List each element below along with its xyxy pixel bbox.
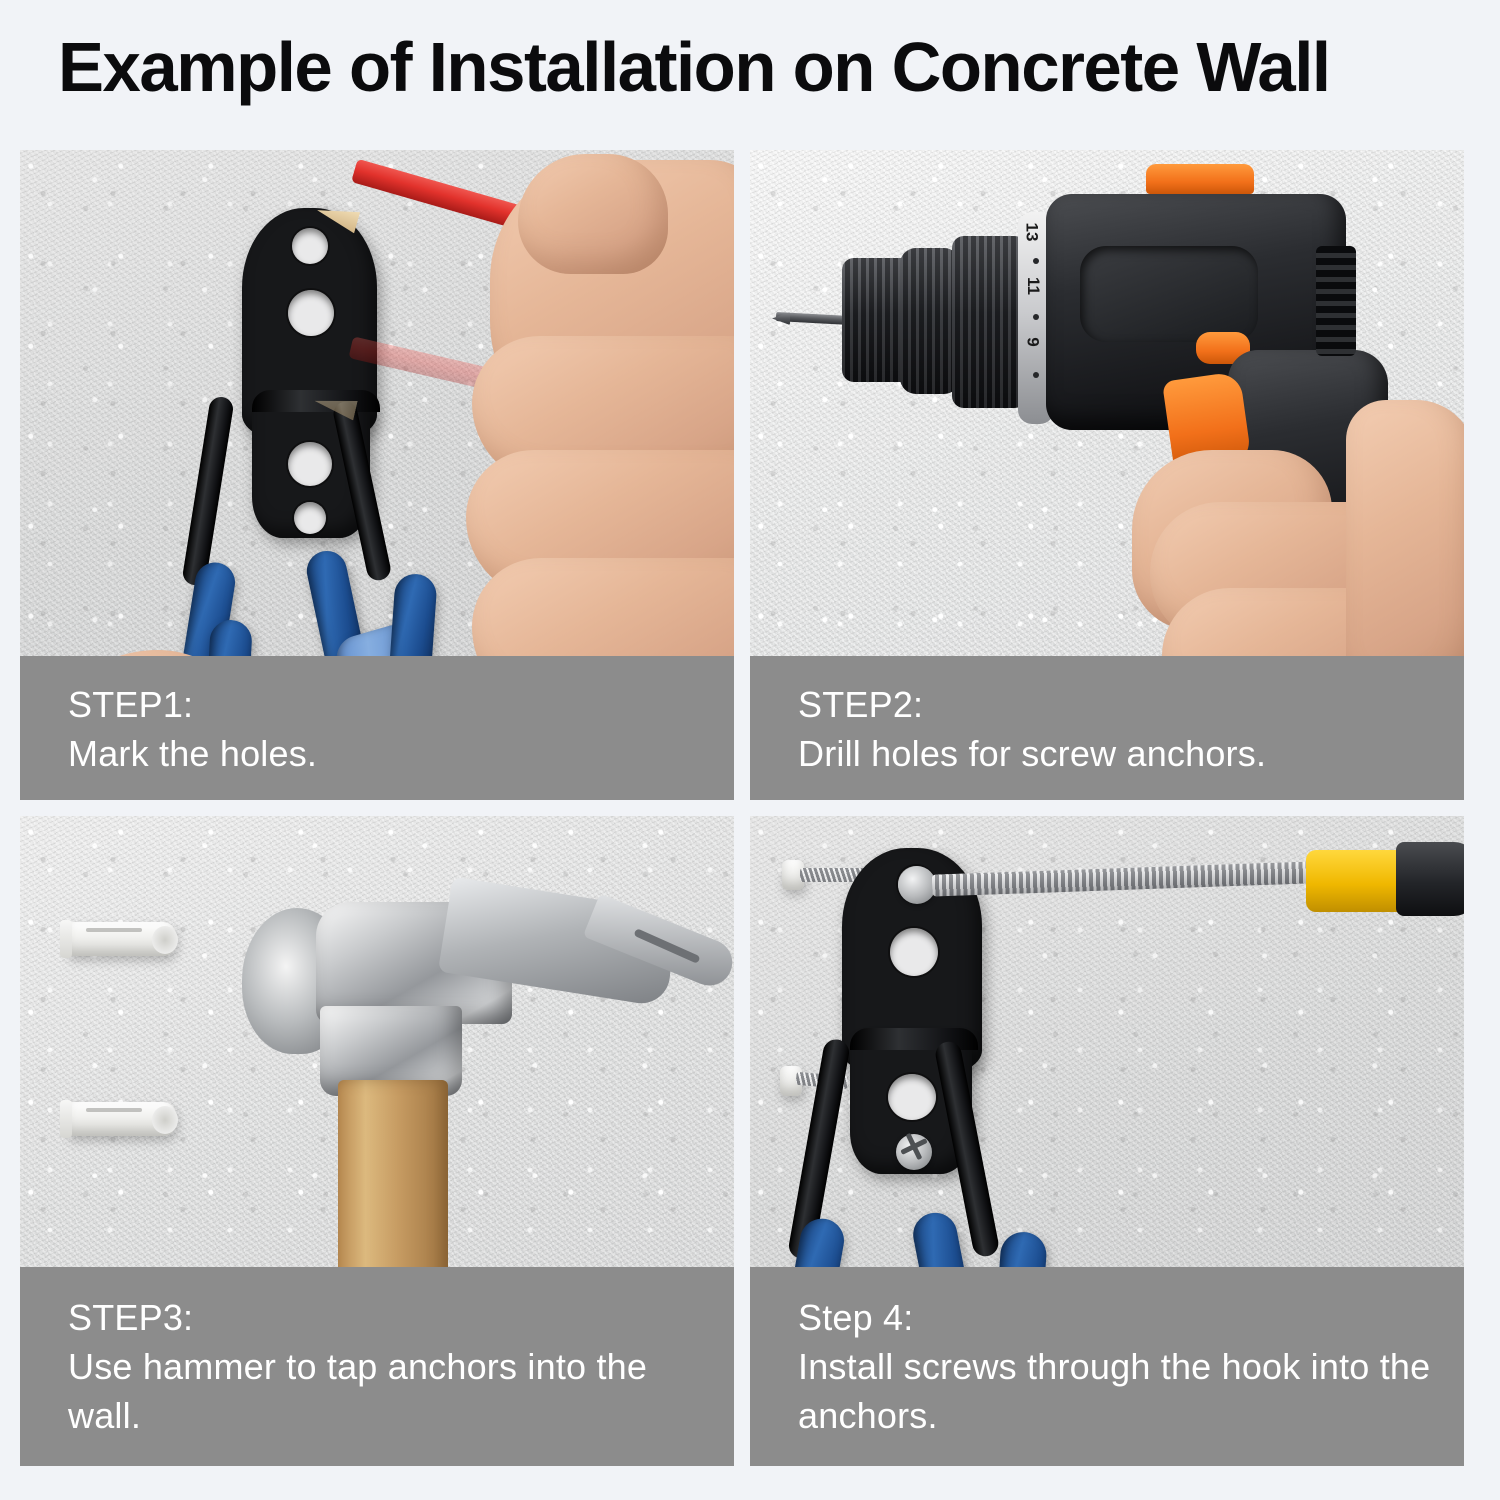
step-panel-3: STEP3: Use hammer to tap anchors into th… [20, 816, 734, 1466]
drill-chuck-collar [900, 248, 960, 394]
clutch-number-11: 11 [1023, 277, 1043, 295]
page-title: Example of Installation on Concrete Wall [58, 32, 1437, 102]
step-label-4: Step 4: [798, 1293, 1464, 1342]
installation-steps-grid: STEP1: Mark the holes. 13 11 9 [20, 150, 1480, 1466]
screwdriver-grip-yellow [1306, 850, 1406, 912]
clutch-dot-3 [1033, 372, 1039, 378]
anchor-mouth [152, 926, 178, 954]
drill-gearbox [952, 236, 1026, 408]
anchor-collar [60, 1100, 72, 1138]
bracket-hole-bottom [294, 502, 326, 534]
drill-grip-pad [1080, 246, 1258, 342]
caption-step-2: STEP2: Drill holes for screw anchors. [750, 656, 1464, 800]
drill-vents [1316, 246, 1356, 356]
step-label-2: STEP2: [798, 680, 1464, 729]
step-description-3-line-1: Use hammer to tap anchors into the [68, 1342, 734, 1391]
bracket-hole-third [888, 1074, 936, 1120]
drill-chuck-front [842, 258, 908, 382]
bracket-hole-top [292, 228, 328, 264]
step-description-3-line-2: wall. [68, 1391, 734, 1440]
step-description-1: Mark the holes. [68, 729, 734, 778]
anchor-slot [86, 1108, 142, 1112]
step-label-1: STEP1: [68, 680, 734, 729]
anchor-collar [60, 920, 72, 958]
drill-direction-switch [1146, 164, 1254, 194]
step-description-4-line-2: anchors. [798, 1391, 1464, 1440]
caption-step-1: STEP1: Mark the holes. [20, 656, 734, 800]
screw-head-in-bracket [898, 866, 936, 904]
bracket-hole-third [288, 442, 332, 486]
step-description-2: Drill holes for screw anchors. [798, 729, 1464, 778]
screwdriver-grip-black [1396, 842, 1464, 916]
bracket-hole-second [890, 928, 938, 976]
step-panel-1: STEP1: Mark the holes. [20, 150, 734, 800]
step-panel-2: 13 11 9 STEP2: D [750, 150, 1464, 800]
bracket-hole-second [288, 290, 334, 336]
clutch-number-13: 13 [1021, 223, 1041, 242]
clutch-dot-1 [1033, 258, 1039, 264]
step-panel-4: Step 4: Install screws through the hook … [750, 816, 1464, 1466]
clutch-number-9: 9 [1023, 337, 1043, 346]
step-description-4-line-1: Install screws through the hook into the [798, 1342, 1464, 1391]
clutch-dot-2 [1033, 314, 1039, 320]
thumb [518, 154, 668, 274]
hand-back [1346, 400, 1464, 700]
anchor-slot [86, 928, 142, 932]
caption-step-4: Step 4: Install screws through the hook … [750, 1267, 1464, 1466]
step-label-3: STEP3: [68, 1293, 734, 1342]
anchor-mouth [152, 1106, 178, 1134]
caption-step-3: STEP3: Use hammer to tap anchors into th… [20, 1267, 734, 1466]
